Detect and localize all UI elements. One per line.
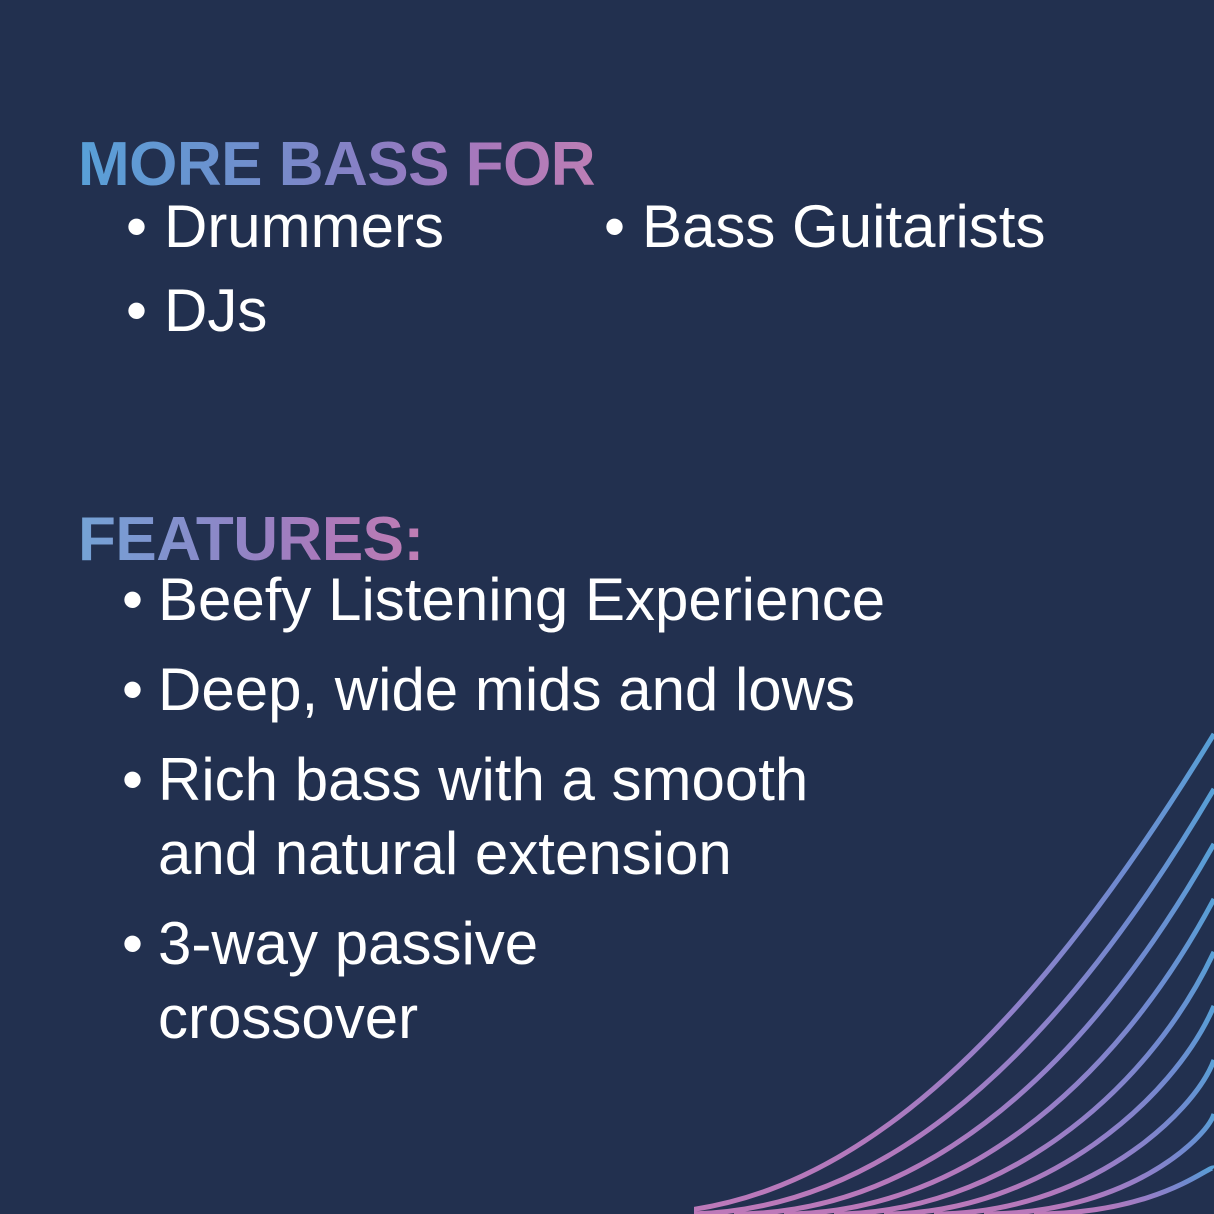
bullet-dot-icon: • — [122, 653, 143, 727]
list-item-drummers: • Drummers — [126, 190, 604, 264]
bullet-dot-icon: • — [122, 563, 143, 637]
list-item-label: Drummers — [164, 193, 444, 260]
product-feature-poster: MORE BASS FOR • Drummers • Bass Guitaris… — [0, 0, 1214, 1214]
audience-row-second: • DJs — [126, 274, 1166, 348]
list-item-label-continued: crossover — [158, 981, 1132, 1055]
list-item-label: 3-way passive — [158, 907, 1132, 981]
list-item-label: Deep, wide mids and lows — [158, 653, 1132, 727]
list-item-label-continued: and natural extension — [158, 817, 1132, 891]
list-item-label: Rich bass with a smooth — [158, 743, 1132, 817]
audience-row-first: • Drummers • Bass Guitarists — [126, 190, 1166, 264]
list-item-label: Beefy Listening Experience — [158, 563, 1132, 637]
audience-bullet-group: • Drummers • Bass Guitarists • DJs — [126, 190, 1166, 348]
list-item-label: Bass Guitarists — [642, 193, 1045, 260]
bullet-dot-icon: • — [126, 274, 147, 348]
bullet-dot-icon: • — [604, 190, 625, 264]
list-item-label: DJs — [164, 277, 267, 344]
list-item-3-way-passive-crossover: • 3-way passive crossover — [122, 907, 1132, 1055]
list-item-rich-bass-smooth-natural-extension: • Rich bass with a smooth and natural ex… — [122, 743, 1132, 891]
features-bullet-group: • Beefy Listening Experience • Deep, wid… — [122, 563, 1132, 1071]
list-item-beefy-listening-experience: • Beefy Listening Experience — [122, 563, 1132, 637]
audience-section-heading: MORE BASS FOR — [78, 134, 595, 196]
list-item-bass-guitarists: • Bass Guitarists — [604, 190, 1045, 264]
list-item-djs: • DJs — [126, 274, 1166, 348]
list-item-deep-wide-mids-and-lows: • Deep, wide mids and lows — [122, 653, 1132, 727]
bullet-dot-icon: • — [126, 190, 147, 264]
bullet-dot-icon: • — [122, 907, 143, 981]
bullet-dot-icon: • — [122, 743, 143, 817]
